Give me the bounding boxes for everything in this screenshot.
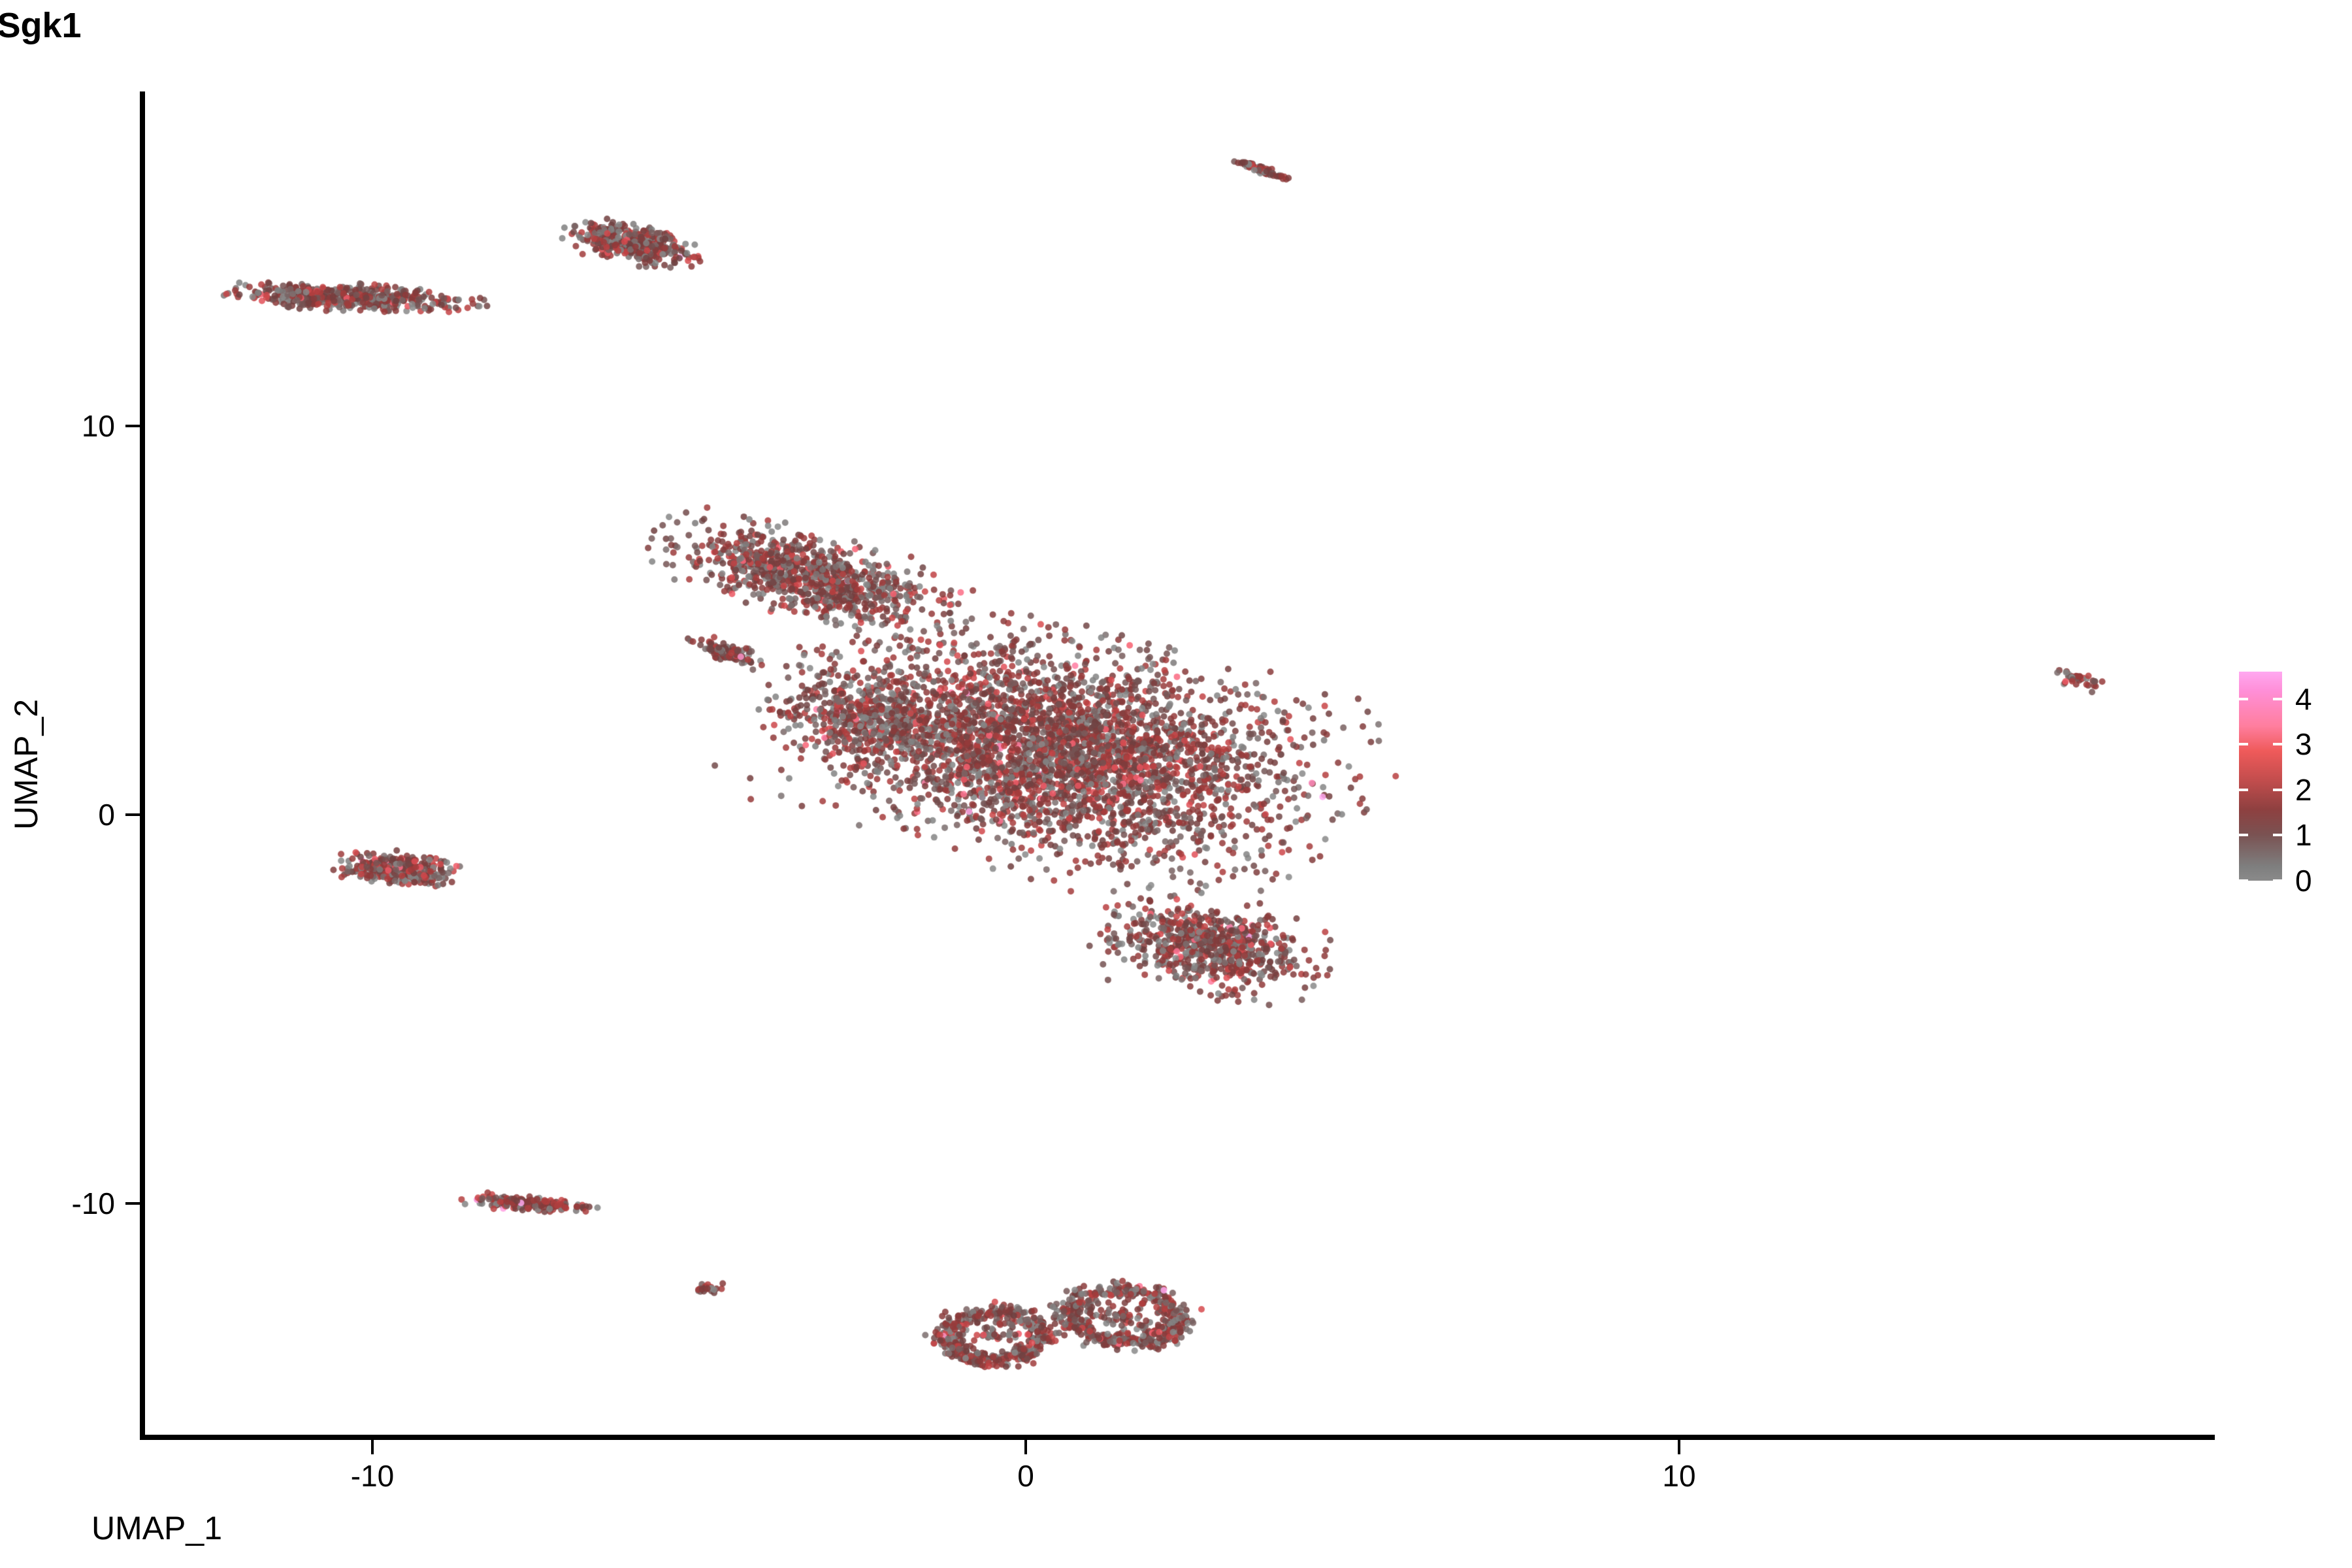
colorbar <box>2239 672 2282 881</box>
umap-feature-plot: Sgk1 -10010 100-10 UMAP_1 UMAP_2 43210 <box>0 0 2352 1568</box>
colorbar-tick-label: 0 <box>2295 863 2312 898</box>
colorbar-tick-label: 2 <box>2295 772 2312 808</box>
colorbar-tick-mark <box>2273 834 2282 836</box>
x-tick-mark <box>371 1440 374 1454</box>
colorbar-tick-mark <box>2239 834 2248 836</box>
colorbar-tick-mark <box>2273 743 2282 745</box>
y-tick-label: 0 <box>98 797 115 832</box>
colorbar-tick-mark <box>2273 698 2282 700</box>
colorbar-tick-mark <box>2273 879 2282 882</box>
colorbar-tick-mark <box>2239 743 2248 745</box>
colorbar-tick-label: 4 <box>2295 681 2312 717</box>
colorbar-tick-mark <box>2239 789 2248 791</box>
y-axis-label: UMAP_2 <box>7 699 45 830</box>
y-tick-label: 10 <box>82 408 115 444</box>
x-tick-mark <box>1024 1440 1027 1454</box>
colorbar-tick-mark <box>2239 698 2248 700</box>
colorbar-tick-mark <box>2273 789 2282 791</box>
colorbar-tick-label: 1 <box>2295 817 2312 853</box>
y-tick-mark <box>125 813 140 816</box>
y-tick-mark <box>125 1202 140 1205</box>
x-axis-line <box>140 1435 2215 1440</box>
x-tick-label: 0 <box>1017 1458 1034 1494</box>
color-legend: 43210 <box>2239 672 2282 881</box>
scatter-layer <box>0 0 2352 1568</box>
x-tick-mark <box>1678 1440 1680 1454</box>
x-tick-label: -10 <box>351 1458 394 1494</box>
y-axis-line <box>140 91 145 1440</box>
colorbar-tick-mark <box>2239 879 2248 882</box>
y-tick-mark <box>125 425 140 427</box>
colorbar-tick-label: 3 <box>2295 727 2312 762</box>
y-tick-label: -10 <box>72 1186 115 1221</box>
plot-panel <box>144 91 2215 1437</box>
x-axis-label: UMAP_1 <box>0 1509 1333 1547</box>
scatter-canvas <box>0 0 2352 1568</box>
x-tick-label: 10 <box>1662 1458 1695 1494</box>
